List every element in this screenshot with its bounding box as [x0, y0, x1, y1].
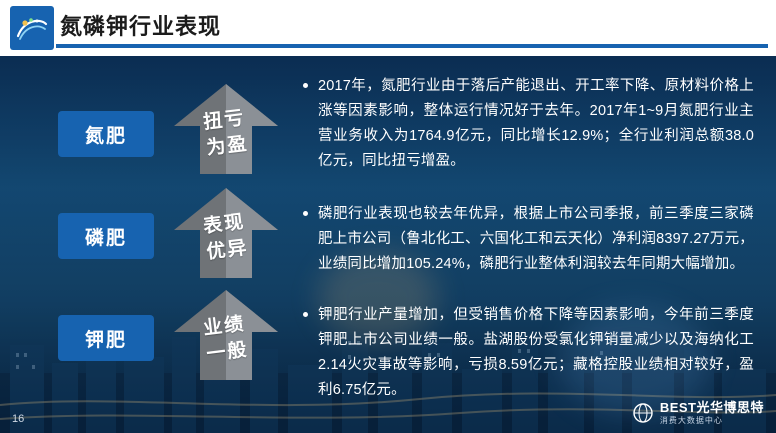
- category-tag-potash: 钾肥: [58, 315, 154, 361]
- bullet-text: 磷肥行业表现也较去年优异，根据上市公司季报，前三季度三家磷肥上市公司（鲁北化工、…: [318, 206, 754, 272]
- bullet-list: 2017年，氮肥行业由于落后产能退出、开工率下降、原材料价格上涨等因素影响，整体…: [302, 74, 754, 425]
- trend-arrow-phosphate: 表现 优异: [170, 186, 282, 280]
- bullet-text: 钾肥行业产量增加，但受销售价格下降等因素影响，今年前三季度钾肥上市公司业绩一般。…: [318, 307, 754, 398]
- category-tag-phosphate: 磷肥: [58, 213, 154, 259]
- slide-header: 氮磷钾行业表现: [0, 0, 776, 56]
- category-tag-nitrogen: 氮肥: [58, 111, 154, 157]
- brand-footer: BEST光华博思特 消费大数据中心: [632, 401, 764, 425]
- category-tag-label: 氮肥: [85, 121, 127, 148]
- best-globe-icon: [632, 402, 654, 424]
- bullet-item-potash: 钾肥行业产量增加，但受销售价格下降等因素影响，今年前三季度钾肥上市公司业绩一般。…: [302, 303, 754, 403]
- header-divider: [56, 44, 768, 48]
- bullet-dot-icon: [303, 312, 308, 317]
- bullet-dot-icon: [303, 211, 308, 216]
- page-title: 氮磷钾行业表现: [60, 9, 221, 41]
- bullet-item-nitrogen: 2017年，氮肥行业由于落后产能退出、开工率下降、原材料价格上涨等因素影响，整体…: [302, 74, 754, 174]
- brand-subtitle: 消费大数据中心: [660, 417, 764, 425]
- bullet-item-phosphate: 磷肥行业表现也较去年优异，根据上市公司季报，前三季度三家磷肥上市公司（鲁北化工、…: [302, 202, 754, 277]
- category-tag-label: 钾肥: [85, 325, 127, 352]
- trend-arrow-potash: 业绩 一般: [170, 288, 282, 382]
- bullet-dot-icon: [303, 83, 308, 88]
- page-number: 16: [12, 413, 24, 425]
- best-swoosh-logo-icon: [10, 6, 54, 50]
- trend-arrow-nitrogen: 扭亏 为盈: [170, 82, 282, 176]
- bullet-text: 2017年，氮肥行业由于落后产能退出、开工率下降、原材料价格上涨等因素影响，整体…: [318, 78, 754, 169]
- brand-name: BEST光华博思特: [660, 401, 764, 414]
- slide: 氮磷钾行业表现: [0, 0, 776, 433]
- category-tag-label: 磷肥: [85, 223, 127, 250]
